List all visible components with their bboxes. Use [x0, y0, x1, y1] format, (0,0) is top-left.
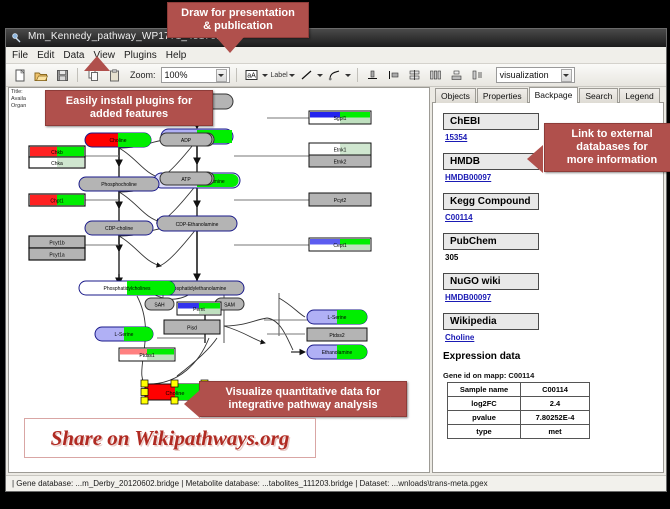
- node-l-serine-right: L-Serine: [307, 310, 367, 324]
- callout-link-line2: databases for: [553, 141, 670, 154]
- node-ethanolamine-lower: Ethanolamine: [307, 345, 367, 359]
- menu-file[interactable]: File: [12, 50, 28, 61]
- svg-text:L-Serine: L-Serine: [328, 315, 347, 321]
- window-titlebar[interactable]: Mm_Kennedy_pathway_WP1771_45176.gpml: [6, 29, 666, 47]
- node-l-serine-left: L-Serine: [95, 327, 153, 341]
- svg-text:SAM: SAM: [224, 303, 235, 309]
- chevron-down-icon[interactable]: [262, 74, 268, 77]
- expr-key-1: log2FC: [448, 397, 521, 411]
- chevron-down-icon[interactable]: [345, 74, 351, 77]
- svg-text:Ptdss1: Ptdss1: [139, 353, 155, 359]
- cofactor-sah: SAH: [145, 298, 174, 310]
- node-phosphocholine: Phosphocholine: [79, 177, 159, 191]
- line-icon[interactable]: [298, 66, 316, 84]
- node-phosphatidylcholines: Phosphatidylcholines: [79, 281, 175, 295]
- gene-pcyt1b-pcyt1a: Pcyt1b Pcyt1a: [29, 236, 85, 260]
- gene-ptdss1: Ptdss1: [119, 348, 175, 361]
- gene-pcyt2: Pcyt2: [309, 193, 371, 206]
- expr-val-0: C00114: [521, 383, 590, 397]
- statusbar-text: | Gene database: ...m_Derby_20120602.bri…: [6, 479, 488, 488]
- svg-text:aA: aA: [247, 73, 256, 80]
- svg-text:CDP-choline: CDP-choline: [105, 226, 133, 232]
- menu-plugins[interactable]: Plugins: [124, 50, 157, 61]
- expr-key-2: pvalue: [448, 411, 521, 425]
- label-tool[interactable]: Label: [271, 72, 295, 79]
- expr-val-3: met: [521, 425, 590, 439]
- db-link-nugo[interactable]: HMDB00097: [445, 293, 663, 302]
- callout-visualize: Visualize quantitative data for integrat…: [199, 381, 407, 417]
- svg-text:ATP: ATP: [181, 177, 191, 183]
- svg-text:Pcyt1a: Pcyt1a: [49, 253, 65, 259]
- db-header-kegg: Kegg Compound: [443, 193, 539, 210]
- statusbar: | Gene database: ...m_Derby_20120602.bri…: [6, 475, 666, 491]
- svg-text:Pisd: Pisd: [187, 326, 197, 332]
- pathway-canvas[interactable]: Title: Availa Organ: [8, 87, 430, 473]
- callout-draw-line1: Draw for presentation: [176, 7, 300, 20]
- label-tool-label: Label: [271, 72, 288, 79]
- arc-tool[interactable]: [326, 66, 351, 84]
- zoom-label: Zoom:: [130, 70, 156, 80]
- callout-visualize-line2: integrative pathway analysis: [208, 399, 398, 412]
- new-file-icon[interactable]: [11, 66, 29, 84]
- svg-text:Phosphatidylethanolamine: Phosphatidylethanolamine: [168, 286, 227, 292]
- callout-visualize-arrow-right: [390, 391, 405, 417]
- db-header-hmdb: HMDB: [443, 153, 539, 170]
- arc-icon[interactable]: [326, 66, 344, 84]
- table-row: Sample name C00114: [448, 383, 590, 397]
- chevron-down-icon[interactable]: [317, 74, 323, 77]
- tab-properties[interactable]: Properties: [477, 88, 528, 103]
- align-left-icon[interactable]: [385, 66, 403, 84]
- svg-text:Choline: Choline: [110, 138, 127, 144]
- gene-cept1: Cept1: [309, 238, 371, 251]
- svg-text:Ethanolamine: Ethanolamine: [322, 350, 353, 356]
- table-row: type met: [448, 425, 590, 439]
- svg-text:Choline: Choline: [166, 391, 185, 397]
- svg-text:Phosphatidylcholines: Phosphatidylcholines: [104, 286, 151, 292]
- svg-text:Chka: Chka: [51, 161, 63, 167]
- svg-text:Chpt1: Chpt1: [50, 199, 64, 205]
- svg-text:Phosphocholine: Phosphocholine: [101, 182, 137, 188]
- svg-text:L-Serine: L-Serine: [115, 332, 134, 338]
- sidebar-tabs: Objects Properties Backpage Search Legen…: [432, 87, 664, 103]
- svg-text:Ptdss2: Ptdss2: [329, 333, 345, 339]
- callout-link: Link to external databases for more info…: [544, 123, 670, 172]
- text-box-tool[interactable]: aA: [243, 66, 268, 84]
- expression-data-title: Expression data: [443, 351, 663, 362]
- node-cdp-ethanolamine: CDP-Ethanolamine: [157, 216, 237, 231]
- db-header-nugo: NuGO wiki: [443, 273, 539, 290]
- svg-text:SAH: SAH: [154, 303, 165, 309]
- svg-text:Etnk2: Etnk2: [334, 160, 347, 166]
- gene-chpt1: Chpt1: [29, 194, 85, 206]
- tab-backpage[interactable]: Backpage: [529, 87, 579, 103]
- cofactor-atp-pill: ATP: [160, 172, 212, 185]
- gene-pisd: Pisd: [164, 320, 220, 334]
- tab-search[interactable]: Search: [579, 88, 618, 103]
- chevron-down-icon[interactable]: [561, 69, 572, 82]
- callout-plugins: Easily install plugins for added feature…: [45, 90, 213, 126]
- svg-text:Etnk1: Etnk1: [334, 148, 347, 154]
- open-folder-icon[interactable]: [32, 66, 50, 84]
- pathvisio-icon: [11, 32, 23, 44]
- callout-draw: Draw for presentation & publication: [167, 2, 309, 38]
- svg-text:Pcyt1b: Pcyt1b: [49, 241, 65, 247]
- menu-help[interactable]: Help: [166, 50, 187, 61]
- node-choline-top: Choline: [85, 133, 151, 147]
- callout-plugins-arrow: [84, 56, 110, 71]
- svg-text:Pcyt2: Pcyt2: [334, 198, 347, 204]
- gene-sgpl1: Sgpl1: [309, 111, 371, 124]
- db-header-wikipedia: Wikipedia: [443, 313, 539, 330]
- table-row: log2FC 2.4: [448, 397, 590, 411]
- share-banner-text: Share on Wikipathways.org: [51, 426, 290, 451]
- gene-ptdss2: Ptdss2: [307, 328, 367, 341]
- db-link-kegg[interactable]: C00114: [445, 213, 663, 222]
- db-link-wikipedia[interactable]: Choline: [445, 333, 663, 342]
- expr-val-2: 7.80252E-4: [521, 411, 590, 425]
- db-header-pubchem: PubChem: [443, 233, 539, 250]
- db-link-hmdb[interactable]: HMDB00097: [445, 173, 663, 182]
- chevron-down-icon[interactable]: [216, 69, 227, 82]
- callout-link-line3: more information: [553, 154, 670, 167]
- text-box-icon[interactable]: aA: [243, 66, 261, 84]
- gene-chkb-chka: Chkb Chka: [29, 146, 85, 168]
- visualization-combobox[interactable]: visualization: [496, 67, 575, 83]
- align-top-icon[interactable]: [364, 66, 382, 84]
- order-icon[interactable]: [469, 66, 487, 84]
- share-banner: Share on Wikipathways.org: [24, 418, 316, 458]
- svg-text:Cept1: Cept1: [333, 243, 347, 249]
- save-icon[interactable]: [53, 66, 71, 84]
- table-row: pvalue 7.80252E-4: [448, 411, 590, 425]
- expr-key-0: Sample name: [448, 383, 521, 397]
- gene-id-on-mapp: Gene id on mapp: C00114: [443, 371, 663, 380]
- expr-key-3: type: [448, 425, 521, 439]
- tab-objects[interactable]: Objects: [435, 88, 476, 103]
- callout-plugins-line1: Easily install plugins for: [54, 95, 204, 108]
- zoom-value: 100%: [165, 70, 188, 80]
- callout-draw-arrow: [216, 37, 244, 53]
- svg-text:Pemt: Pemt: [193, 307, 205, 313]
- svg-text:Chkb: Chkb: [51, 150, 63, 156]
- visualization-value: visualization: [500, 70, 549, 80]
- db-header-chebi: ChEBI: [443, 113, 539, 130]
- svg-text:ADP: ADP: [181, 138, 192, 144]
- callout-visualize-arrow-left: [184, 390, 200, 418]
- stack-icon[interactable]: [406, 66, 424, 84]
- line-tool[interactable]: [298, 66, 323, 84]
- distribute-icon[interactable]: [427, 66, 445, 84]
- expression-table: Sample name C00114 log2FC 2.4 pvalue 7.8…: [447, 382, 590, 439]
- zoom-combobox[interactable]: 100%: [161, 67, 230, 83]
- svg-text:CDP-Ethanolamine: CDP-Ethanolamine: [176, 222, 219, 228]
- cofactor-adp-pill: ADP: [160, 133, 212, 146]
- callout-link-arrow: [527, 145, 543, 173]
- menu-edit[interactable]: Edit: [37, 50, 54, 61]
- node-cdp-choline: CDP-choline: [85, 221, 153, 235]
- group-icon[interactable]: [448, 66, 466, 84]
- chevron-down-icon[interactable]: [289, 74, 295, 77]
- gene-etnk: Etnk1 Etnk2: [309, 143, 371, 167]
- tab-legend[interactable]: Legend: [619, 88, 659, 103]
- gene-pemt: Pemt: [177, 302, 221, 315]
- callout-draw-line2: & publication: [176, 20, 300, 33]
- callout-plugins-line2: added features: [54, 108, 204, 121]
- callout-visualize-line1: Visualize quantitative data for: [208, 386, 398, 399]
- callout-link-line1: Link to external: [553, 128, 670, 141]
- db-value-pubchem: 305: [445, 253, 663, 262]
- svg-text:Sgpl1: Sgpl1: [334, 116, 347, 122]
- menu-data[interactable]: Data: [63, 50, 84, 61]
- expr-val-1: 2.4: [521, 397, 590, 411]
- screenshot-root: Mm_Kennedy_pathway_WP1771_45176.gpml Fil…: [0, 0, 670, 509]
